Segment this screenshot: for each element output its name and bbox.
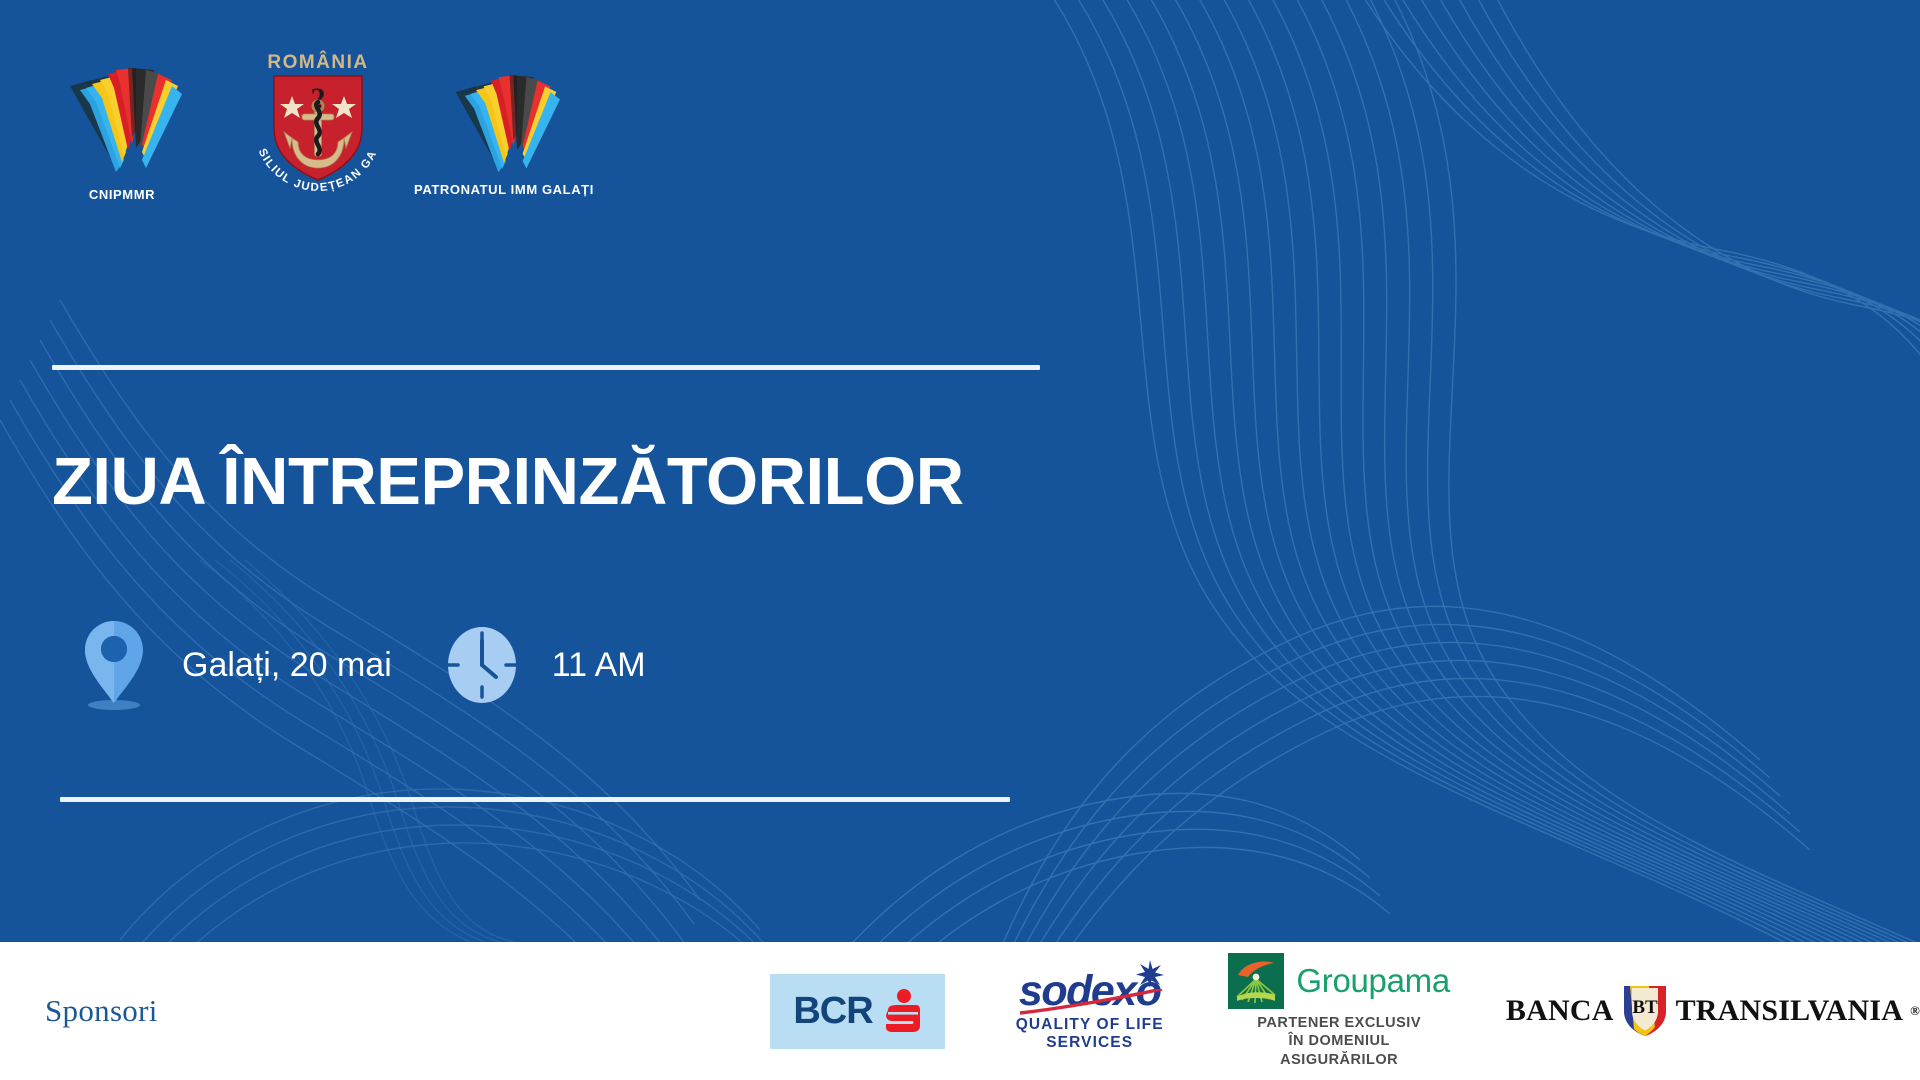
clock-icon: [438, 621, 526, 709]
patronatul-imm-galati-logo: PATRONATUL IMM GALAȚI: [404, 64, 604, 197]
groupama-wordmark: Groupama: [1296, 962, 1450, 1000]
event-time-text: 11 AM: [552, 646, 646, 685]
bt-registered-mark: ®: [1910, 1003, 1920, 1019]
consiliul-judetean-galati-logo: ROMÂNIA 2: [238, 46, 398, 207]
erste-s-icon: [882, 988, 922, 1034]
groupama-field-icon: [1228, 953, 1284, 1009]
bt-shield-icon: BT: [1621, 983, 1669, 1039]
sponsor-logo-list: BCR sodexo: [770, 942, 1920, 1080]
sodexo-logo: sodexo QUALITY OF LIFE SERVICES: [1013, 970, 1166, 1052]
crest-country-label: ROMÂNIA: [267, 51, 368, 73]
event-location: Galați, 20 mai: [78, 617, 392, 713]
sponsor-label: Sponsori: [45, 993, 158, 1029]
coat-of-arms-shield-icon: ROMÂNIA 2: [238, 46, 398, 196]
event-title: ZIUA ÎNTREPRINZĂTORILOR: [52, 448, 964, 515]
sponsor-groupama[interactable]: Groupama PARTENER EXCLUSIV ÎN DOMENIUL A…: [1228, 953, 1450, 1068]
bcr-wordmark: BCR: [793, 990, 872, 1033]
cnipmmr-logo-caption: CNIPMMR: [62, 187, 182, 202]
map-pin-icon: [78, 617, 150, 713]
event-poster: CNIPMMR ROMÂNIA 2: [0, 0, 1920, 1080]
event-location-text: Galați, 20 mai: [182, 646, 392, 685]
groupama-subline-1: PARTENER EXCLUSIV: [1228, 1014, 1450, 1032]
organizer-logos: CNIPMMR ROMÂNIA 2: [0, 46, 760, 206]
bt-word-banca: BANCA: [1506, 994, 1614, 1028]
hero-section: CNIPMMR ROMÂNIA 2: [0, 0, 1920, 942]
divider-bottom: [60, 797, 1010, 802]
bt-word-transilvania: TRANSILVANIA: [1676, 994, 1904, 1028]
sponsor-sodexo[interactable]: sodexo QUALITY OF LIFE SERVICES: [1013, 970, 1166, 1052]
chevron-stack-icon: [448, 64, 560, 176]
chevron-stack-icon: [62, 56, 182, 176]
sponsor-banca-transilvania[interactable]: BANCA BT TRANSILVANIA ®: [1506, 983, 1920, 1039]
patronatul-imm-galati-caption: PATRONATUL IMM GALAȚI: [404, 182, 604, 197]
groupama-logo: Groupama PARTENER EXCLUSIV ÎN DOMENIUL A…: [1228, 953, 1450, 1068]
bcr-logo: BCR: [770, 974, 945, 1049]
sodexo-tagline: QUALITY OF LIFE SERVICES: [1013, 1016, 1166, 1052]
cnipmmr-logo: CNIPMMR: [62, 56, 182, 202]
groupama-subline-2: ÎN DOMENIUL ASIGURĂRILOR: [1228, 1032, 1450, 1068]
star-burst-icon: [1136, 960, 1164, 988]
bt-shield-label: BT: [1632, 997, 1658, 1018]
event-meta: Galați, 20 mai 11 AM: [78, 610, 646, 720]
event-time: 11 AM: [438, 621, 646, 709]
sponsor-bcr[interactable]: BCR: [770, 974, 945, 1049]
divider-top: [52, 365, 1040, 370]
sponsor-bar: Sponsori BCR sodexo: [0, 942, 1920, 1080]
